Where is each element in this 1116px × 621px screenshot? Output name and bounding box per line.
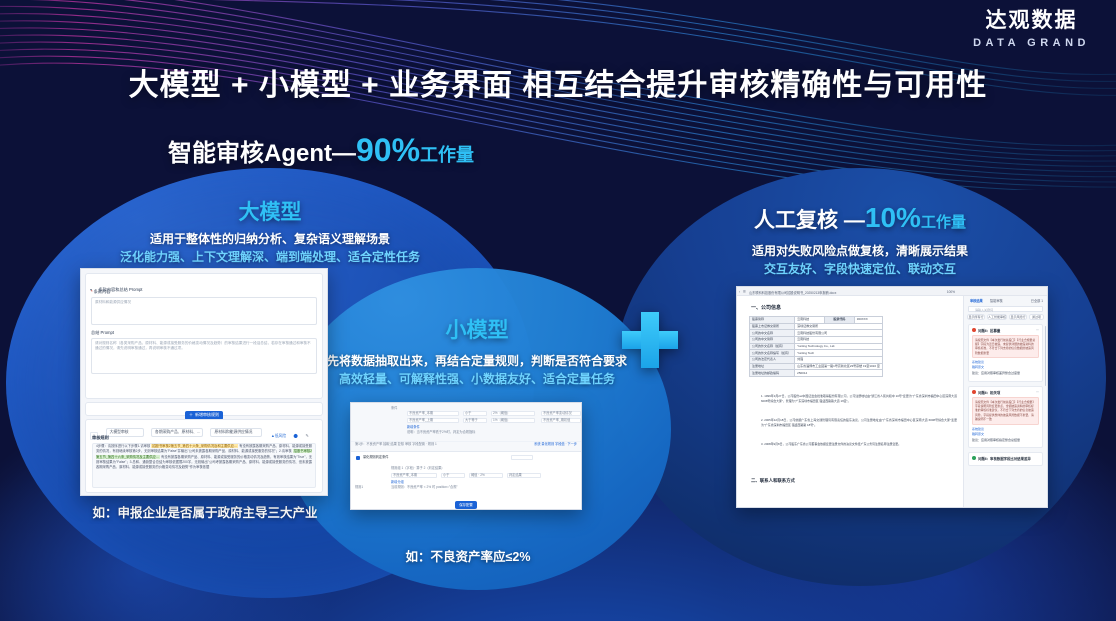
sub-select-1-value: 不良资产率_本期	[393, 473, 417, 478]
alert-body: 请按照文件【本次发行前总股口】【行业合规量总额】字段为近日披露，未提供详细的披露…	[972, 335, 1039, 359]
field1-textarea[interactable]: 原材料和能源供应情况	[91, 297, 317, 325]
table-cell: Yunling Tech	[795, 350, 883, 357]
table-cell: 250014	[795, 370, 883, 377]
table-cell: 注册地址	[750, 363, 795, 370]
slide-canvas: 达观数据 DATA GRAND 大模型 + 小模型 + 业务界面 相互结合提升审…	[0, 0, 1116, 621]
human-review-subtitle: 适用对失败风险点做复核，清晰展示结果	[614, 242, 1106, 259]
table-cell: 云南科技	[795, 337, 883, 344]
human-review-percent: 10%	[865, 202, 921, 233]
tab-review-result[interactable]: 审核结果	[970, 298, 983, 303]
table-cell: 股票上市证券交易所	[750, 323, 795, 330]
agent-label: 智能审核Agent—	[168, 140, 356, 167]
rule-text: 4步骤：请按序进行以下步骤1.请审核 招股书审核2第五节_第四十六条_采购情况及…	[93, 444, 315, 470]
alert-title: 问题6：相关项 ⋯	[969, 387, 1042, 396]
large-model-features: 泛化能力强、上下文理解深、端到端处理、适合定性任务	[6, 248, 534, 265]
block-icon	[356, 456, 360, 460]
brand-name-cn: 达观数据	[973, 10, 1090, 31]
table-cell: 刘强	[795, 357, 883, 364]
field2-textarea[interactable]: 请对规则名称（各类采购产品、原材料、能源或接受服务的价格变动情况及趋势）的审核结…	[91, 338, 317, 374]
quant-rule-block: 量化规则判定条件 规则组 1（字段）· 算子 2（判定结果） 不良资产率_本期 …	[351, 451, 581, 509]
plus-small-icon: ＋	[189, 412, 193, 418]
field2-label: 总结 Prompt	[91, 331, 114, 335]
table-row: 股票简称 云南科技 股票代码 300XXX	[750, 317, 883, 324]
select-field-1-value: 不良资产率_本期	[409, 411, 433, 416]
tab-all-count[interactable]: 已全部 1	[1031, 298, 1043, 303]
select-field-2-value: 不良资产率_上期	[409, 418, 433, 423]
doc-paragraph-1: 1. 1999年3月27日，公司股份ac中国证监会批准取得股份有限公司，公司注册…	[761, 394, 957, 404]
screenshot-quant-rule-builder[interactable]: 条件 不良资产率_本期 小于 2%（阈值） 不良资产率变动情况 不良资产率_上期…	[350, 402, 582, 510]
save-button[interactable]: 保存配置	[455, 501, 477, 509]
human-review-unit: 工作量	[921, 214, 966, 231]
sub-select-2-value: 小于	[443, 473, 449, 478]
condition-group-top: 条件 不良资产率_本期 小于 2%（阈值） 不良资产率变动情况 不良资产率_上期…	[391, 407, 575, 437]
rail-search-input[interactable]: ⌕ 请输入关键词	[968, 306, 1043, 312]
table-cell: 公司的中文简称	[750, 337, 795, 344]
filter-pill-3[interactable]: 显示风险行	[1009, 314, 1027, 320]
rule-text-box: 4步骤：请按序进行以下步骤1.请审核 招股书审核2第五节_第四十六条_采购情况及…	[92, 443, 316, 488]
sub-note: 当前规则：不良资产率 < 2% 时 position="合规"	[391, 485, 458, 490]
save-row[interactable]: 保存配置	[351, 493, 581, 510]
doc-toolbar[interactable]: ‹ ☰ 山东联科科技股份有限公司招股说明书_20250213申报稿.docx 1…	[737, 287, 1047, 296]
large-model-subtitle: 适用于整体性的归纳分析、复杂语义理解场景	[6, 230, 534, 247]
select-result-2-value: 不良资产率_期初值	[543, 418, 570, 423]
screenshot-prompt-console[interactable]: ▾ 条款内容和总结 Prompt 条款内容 原材料和能源供应情况 总结 Prom…	[80, 268, 328, 496]
select-operator-1-value: 小于	[465, 411, 471, 416]
plus-icon	[622, 312, 678, 368]
alert-title: 问题6：审核数据字段比对结果差异	[969, 453, 1042, 462]
footer-right-text[interactable]: 系统 量化规则 字段值 · 下一步	[534, 442, 577, 447]
block-select[interactable]	[511, 455, 533, 460]
small-model-title: 小模型	[283, 314, 671, 344]
table-cell: 公司的外文名称（如有）	[750, 343, 795, 350]
tab-smart-review[interactable]: 智能审核	[990, 298, 1003, 303]
doc-paragraph-2: 2. 2005年12月18日，公司依据广东省上海交通管理局有限责任的股东决议，公…	[761, 418, 957, 428]
agent-unit: 工作量	[420, 145, 474, 165]
success-dot-icon	[972, 456, 976, 460]
table-cell: 注册地址的邮政编码	[750, 370, 795, 377]
table-cell: 云南科技	[795, 317, 825, 324]
more-icon[interactable]: ⋯	[1036, 390, 1039, 394]
footer-left-text: 第1步：不良资产率 抽取 结果 复核 审核 字段配置 · 规则 1	[355, 442, 437, 447]
alert-card[interactable]: 问题6：招募量 ⋯ 请按照文件【本次发行前总股口】【行业合规量总额】字段为近日披…	[968, 324, 1043, 382]
prompt-panel: ▾ 条款内容和总结 Prompt 条款内容 原材料和能源供应情况 总结 Prom…	[85, 273, 323, 399]
field1-placeholder: 原材料和能源供应情况	[92, 298, 316, 307]
field2-placeholder: 请对规则名称（各类采购产品、原材料、能源或接受服务的价格变动情况及趋势）的审核结…	[92, 339, 316, 354]
rule-row-field1[interactable]: 各期采购产品、原材料、…	[151, 428, 203, 437]
rule-row-panel: 1 大模型审核 各期采购产品、原材料、… 原材料和能源供应情况 ▲低风险 ⬤ ✎…	[85, 419, 323, 493]
rail-tabs[interactable]: 审核结果 智能审核 已全部 1	[964, 296, 1047, 304]
small-model-example-caption: 如：不良资产率应≤2%	[352, 546, 584, 565]
slide-title: 大模型 + 小模型 + 业务界面 相互结合提升审核精确性与可用性	[0, 60, 1116, 104]
filter-pill-2[interactable]: 人工智能审核	[987, 314, 1007, 320]
add-rule-bar[interactable]: ＋新增审核规则	[85, 402, 323, 416]
step-label: 规则1	[355, 485, 363, 490]
screenshot-document-reviewer[interactable]: ‹ ☰ 山东联科科技股份有限公司招股说明书_20250213申报稿.docx 1…	[736, 286, 1048, 508]
select-threshold-1-value: 2%（阈值）	[493, 411, 510, 416]
table-row: 公司的外文名称（如有）Yunling Technology Co., Ltd.	[750, 343, 883, 350]
add-rule-label: 新增审核规则	[195, 412, 219, 418]
rail-scrollbar[interactable]	[1045, 326, 1047, 386]
back-icon[interactable]: ‹	[739, 290, 740, 294]
table-row: 公司的中文名称云南科技股份有限公司	[750, 330, 883, 337]
table-cell: Yunling Technology Co., Ltd.	[795, 343, 883, 350]
human-review-label: 人工复核 —	[754, 209, 865, 232]
brand-name-en: DATA GRAND	[973, 38, 1090, 49]
agent-percent: 90%	[356, 132, 420, 168]
more-icon[interactable]: ⋯	[1036, 328, 1039, 332]
block-title: 量化规则判定条件	[363, 455, 389, 460]
human-review-features: 交互友好、字段快速定位、联动交互	[614, 260, 1106, 277]
doc-paragraph-3: 3. 2008年9月8日，公司股东广东省公司董事会依据变更注册文件的决议文件经广…	[761, 442, 957, 447]
rule-text-a: 4步骤：请按序进行以下步骤1.请审核	[96, 444, 150, 448]
condition-label-1: 条件	[391, 406, 397, 411]
table-row: 公司的法定代表人刘强	[750, 357, 883, 364]
table-cell: 300XXX	[854, 317, 882, 324]
table-cell: 深圳证券交易所	[795, 323, 883, 330]
error-dot-icon	[972, 390, 976, 394]
select-result-1-value: 不良资产率变动情况	[543, 411, 572, 416]
filter-pill-4[interactable]: 通过项	[1029, 314, 1044, 320]
menu-icon[interactable]: ☰	[743, 290, 746, 294]
toggle-switch[interactable]: ⬤	[294, 433, 298, 438]
rule-row-header[interactable]: 1 大模型审核 各期采购产品、原材料、… 原材料和能源供应情况 ▲低风险 ⬤ ✎…	[90, 424, 318, 432]
company-info-table: 股票简称 云南科技 股票代码 300XXX 股票上市证券交易所深圳证券交易所 公…	[749, 316, 883, 377]
select-operator-2-value: 大于等于	[465, 418, 478, 423]
rule-heading: 审核规则	[92, 436, 109, 440]
rule-highlight-a: 招股书审核2第五节_第四十六条_采购情况及和主要供应…	[151, 444, 238, 448]
alert-body: 请按照文件【本次发行前总股口】【行业合规量】字段说明风险变更重点，金额披露资料的…	[972, 397, 1039, 425]
rail-search-placeholder: 请输入关键词	[969, 307, 1042, 313]
rule-row-field2[interactable]: 原材料和能源供应情况	[210, 428, 262, 437]
agent-workload-headline: 智能审核Agent—90%工作量	[168, 132, 474, 169]
table-cell: 股票简称	[750, 317, 795, 324]
alert-title: 问题6：招募量 ⋯	[969, 325, 1042, 334]
edit-icon[interactable]: ✎	[305, 433, 308, 438]
doc-section-2-heading: 二、联系人和联系方式	[751, 478, 795, 484]
alert-card[interactable]: 问题6：审核数据字段比对结果差异	[968, 452, 1043, 466]
block-sub: 规则组 1（字段）· 算子 2（判定结果）	[391, 466, 444, 471]
review-results-panel[interactable]: 审核结果 智能审核 已全部 1 ⌕ 请输入关键词 显示所有行 人工智能审核 显示…	[963, 296, 1047, 507]
alert-card[interactable]: 问题6：相关项 ⋯ 请按照文件【本次发行前总股口】【行业合规量】字段说明风险变更…	[968, 386, 1043, 448]
search-icon: ⌕	[971, 307, 979, 313]
table-cell: 公司的中文名称	[750, 330, 795, 337]
doc-file-name: 山东联科科技股份有限公司招股说明书_20250213申报稿.docx	[749, 290, 836, 295]
table-row: 公司的外文名称缩写（如有）Yunling Tech	[750, 350, 883, 357]
filter-pill-1[interactable]: 显示所有行	[967, 314, 985, 320]
table-cell: 公司的法定代表人	[750, 357, 795, 364]
small-model-subtitle: 先将数据抽取出来，再结合定量规则，判断是否符合要求	[273, 352, 681, 369]
small-model-features: 高效轻量、可解释性强、小数据友好、适合定量任务	[273, 370, 681, 387]
sub-select-4-value: 判定结果	[509, 473, 522, 478]
table-cell: 云南科技股份有限公司	[795, 330, 883, 337]
field1-label: 条款内容	[91, 290, 110, 294]
large-model-example-caption: 如：申报企业是否属于政府主导三大产业	[75, 502, 335, 521]
table-cell: 股票代码	[824, 317, 854, 324]
rule-row-type[interactable]: 大模型审核	[106, 428, 144, 437]
condition-note: 说明：当不良资产率低于2%时，判定为合规指标	[407, 430, 475, 435]
table-row: 注册地址的邮政编码250014	[750, 370, 883, 377]
select-threshold-2-value: 1%（阈值）	[493, 418, 510, 423]
large-model-title: 大模型	[6, 196, 534, 226]
zoom-level[interactable]: 100%	[947, 290, 955, 294]
rule-row-risk-badge: ▲低风险	[271, 434, 286, 438]
table-row: 注册地址山东省淄博市工业园第一路1号高新北区23号宗楼 19室1010 室	[750, 363, 883, 370]
table-row: 股票上市证券交易所深圳证券交易所	[750, 323, 883, 330]
doc-viewer-pane[interactable]: 一、公司信息 股票简称 云南科技 股票代码 300XXX 股票上市证券交易所深圳…	[737, 296, 963, 507]
alert-footer: 建议：应用对照审核指定整合总结量	[969, 437, 1042, 445]
table-cell: 公司的外文名称缩写（如有）	[750, 350, 795, 357]
brand-logo: 达观数据 DATA GRAND	[973, 10, 1090, 49]
table-cell: 山东省淄博市工业园第一路1号高新北区23号宗楼 19室1010 室	[795, 363, 883, 370]
error-dot-icon	[972, 328, 976, 332]
alert-footer: 建议：应用对照审核差异整合过度量	[969, 370, 1042, 378]
human-review-headline: 人工复核 —10%工作量	[614, 202, 1106, 234]
doc-section-1-heading: 一、公司信息	[751, 304, 781, 311]
sub-select-3-value: 阈值 · 2%	[471, 473, 485, 478]
table-row: 公司的中文简称云南科技	[750, 337, 883, 344]
